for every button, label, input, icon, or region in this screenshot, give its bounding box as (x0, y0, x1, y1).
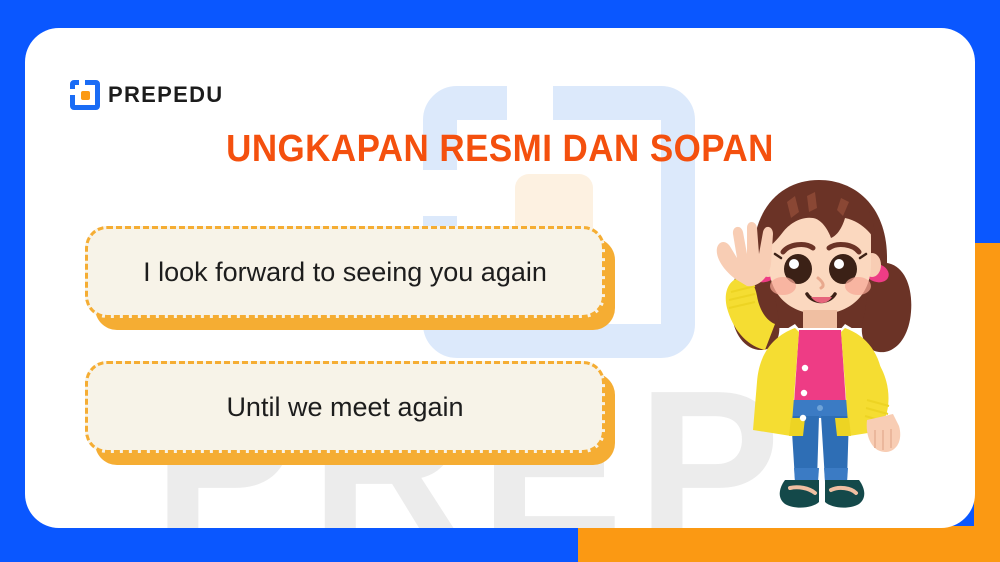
phrase-card-1[interactable]: I look forward to seeing you again (85, 226, 605, 318)
phrase-card-2[interactable]: Until we meet again (85, 361, 605, 453)
brand-logo-text: PREPEDU (108, 82, 223, 108)
phrase-card-1-text: I look forward to seeing you again (117, 253, 573, 291)
phrase-card-2-text: Until we meet again (200, 388, 489, 426)
phrase-card-1-body: I look forward to seeing you again (85, 226, 605, 318)
slide-stage: PREP PREPEDU UNGKAPAN RESMI DAN SOPAN I … (0, 0, 1000, 562)
slide-card: PREP PREPEDU UNGKAPAN RESMI DAN SOPAN I … (25, 28, 975, 528)
background-orange-bottom-strip (578, 526, 1000, 562)
phrase-card-2-body: Until we meet again (85, 361, 605, 453)
background-orange-right-strip (974, 243, 1000, 562)
brand-logo[interactable]: PREPEDU (70, 80, 223, 110)
page-title: UNGKAPAN RESMI DAN SOPAN (63, 128, 937, 171)
prepedu-bracket-icon (70, 80, 100, 110)
girl-waving-illustration (695, 168, 925, 513)
